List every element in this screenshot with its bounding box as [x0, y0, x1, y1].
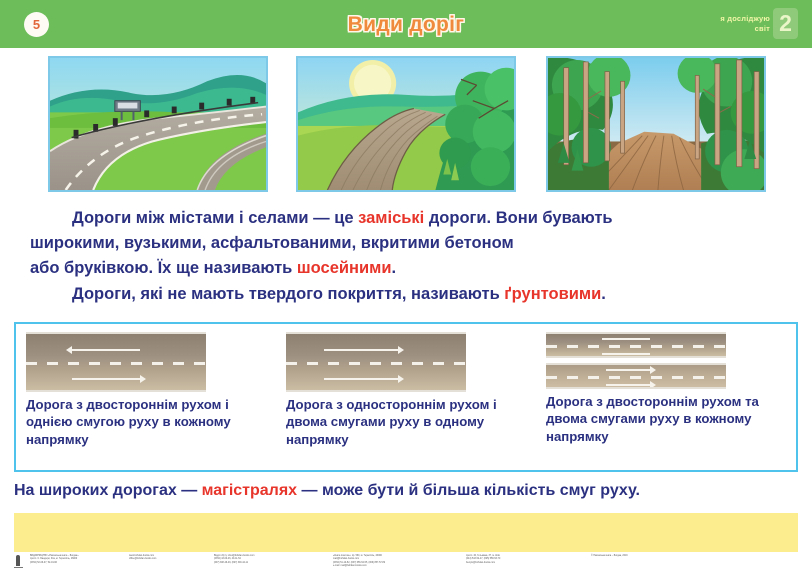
footer-column-web: www.bohdan-books.com office@bohdan-books…: [129, 555, 207, 562]
footer-column-address: ВИДАВНИЦТВО «Навчальна книга – Богдан» п…: [30, 555, 122, 565]
brand-line-1: я досліджую: [720, 14, 770, 24]
footer-column-mail-orders: «Книга поштою»: пр. 560, м. Тернопіль, 4…: [333, 555, 459, 569]
road-illustration-2: [286, 332, 536, 392]
arrow-right-lower-2: [606, 384, 650, 386]
body-paragraph-3: або бруківкою. Їх ще називають шосейними…: [30, 256, 782, 281]
brand-text: я досліджую світ: [720, 14, 770, 33]
p3-part-b: .: [391, 259, 396, 277]
brand-line-2: світ: [720, 24, 770, 34]
arrow-left-top: [72, 349, 140, 351]
arrow-right-bottom: [324, 378, 398, 380]
page-title: Види доріг: [0, 13, 812, 37]
p3-part-a: або бруківкою. Їх ще називають: [30, 259, 297, 277]
bottom-highlight: магістралях: [202, 482, 297, 499]
arrow-right-bottom: [72, 378, 140, 380]
diagram-caption-3: Дорога з двостороннім рухом та двома сму…: [546, 393, 796, 445]
p1-highlight: заміські: [358, 209, 424, 227]
road-surface: [286, 332, 466, 392]
bottom-statement: На широких дорогах — магістралях — може …: [14, 482, 798, 500]
brand-logo: я досліджую світ 2: [720, 8, 798, 39]
p4-part-b: .: [601, 285, 606, 303]
p3-highlight: шосейними: [297, 259, 392, 277]
photo-row: [0, 56, 812, 196]
diagram-one-way-two-lanes: Дорога з одностороннім рухом і двома сму…: [276, 324, 536, 470]
footer-column-copyright: © Навчальна книга – Богдан, 2019: [591, 555, 691, 558]
road-surface-upper: [546, 332, 726, 358]
p1-part-a: Дороги між містами і селами — це: [72, 209, 358, 227]
arrow-left-upper-2: [602, 353, 650, 355]
highway-asphalt-road-photo: [48, 56, 268, 192]
center-dashed-line: [286, 362, 466, 365]
publisher-logo-icon: [14, 555, 23, 570]
road-surface-lower: [546, 363, 726, 389]
body-text: Дороги між містами і селами — це заміськ…: [30, 206, 782, 307]
countryside-dirt-road-photo: [296, 56, 516, 192]
lane-dashed-line-lower: [546, 376, 726, 379]
bottom-part-a: На широких дорогах —: [14, 482, 202, 499]
lane-dashed-line-upper: [546, 345, 726, 348]
diagram-two-way-two-lanes-each: Дорога з двостороннім рухом та двома сму…: [536, 324, 796, 470]
diagram-caption-2: Дорога з одностороннім рухом і двома сму…: [286, 396, 536, 448]
body-paragraph-2: широкими, вузькими, асфальтованими, вкри…: [30, 231, 782, 256]
diagram-two-way-one-lane-each: Дорога з двостороннім рухом і однією сму…: [16, 324, 276, 470]
center-dashed-line: [26, 362, 206, 365]
body-paragraph-4: Дороги, які не мають твердого покриття, …: [30, 282, 782, 307]
road-types-diagram-box: Дорога з двостороннім рухом і однією сму…: [14, 322, 798, 472]
diagram-caption-1: Дорога з двостороннім рухом і однією сму…: [26, 396, 276, 448]
arrow-left-upper-1: [602, 338, 650, 340]
body-paragraph-1: Дороги між містами і селами — це заміськ…: [30, 206, 782, 231]
p4-highlight: ґрунтовими: [504, 285, 601, 303]
road-surface: [26, 332, 206, 392]
p4-part-a: Дороги, які не мають твердого покриття, …: [72, 285, 504, 303]
bottom-part-b: — може бути й більша кількість смуг руху…: [297, 482, 640, 499]
footer-column-kyiv: просп. 40, Гетьмана, 37, м. Київ (044) 5…: [466, 555, 584, 565]
publisher-footer: ВИДАВНИЦТВО «Навчальна книга – Богдан» п…: [14, 555, 798, 575]
yellow-banner: [14, 513, 798, 552]
footer-column-sales: Відділ збуту: sbut@bohdan-books.com (035…: [214, 555, 326, 565]
road-illustration-1: [26, 332, 276, 392]
arrow-right-lower-1: [606, 369, 650, 371]
arrow-right-top: [324, 349, 398, 351]
forest-dirt-road-photo: [546, 56, 766, 192]
page-header: 5 Види доріг я досліджую світ 2: [0, 0, 812, 48]
brand-grade-mark: 2: [773, 8, 798, 39]
p1-part-b: дороги. Вони бувають: [424, 209, 612, 227]
road-illustration-3: [546, 332, 796, 389]
